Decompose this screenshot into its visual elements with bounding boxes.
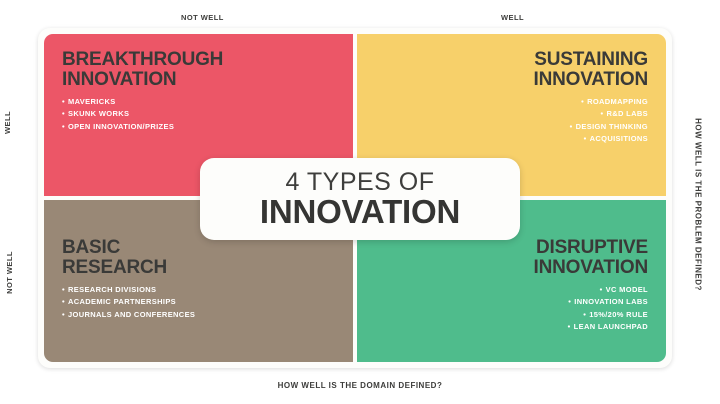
quadrant-title: DISRUPTIVE INNOVATION bbox=[375, 238, 648, 278]
list-item: R&D LABS bbox=[375, 108, 648, 120]
list-item: ROADMAPPING bbox=[375, 96, 648, 108]
list-item: MAVERICKS bbox=[62, 96, 335, 108]
list-item: VC MODEL bbox=[375, 284, 648, 296]
badge-subtitle: 4 TYPES OF bbox=[285, 169, 434, 195]
axis-tick-left-well: WELL bbox=[3, 111, 12, 134]
list-item: ACQUISITIONS bbox=[375, 133, 648, 145]
x-axis-title: HOW WELL IS THE DOMAIN DEFINED? bbox=[0, 381, 720, 390]
center-title-badge: 4 TYPES OF INNOVATION bbox=[200, 158, 520, 240]
quadrant-item-list: VC MODEL INNOVATION LABS 15%/20% RULE LE… bbox=[375, 284, 648, 333]
quadrant-item-list: ROADMAPPING R&D LABS DESIGN THINKING ACQ… bbox=[375, 96, 648, 145]
quadrant-item-list: RESEARCH DIVISIONS ACADEMIC PARTNERSHIPS… bbox=[62, 284, 335, 320]
quadrant-item-list: MAVERICKS SKUNK WORKS OPEN INNOVATION/PR… bbox=[62, 96, 335, 132]
list-item: RESEARCH DIVISIONS bbox=[62, 284, 335, 296]
innovation-matrix-infographic: NOT WELL WELL WELL NOT WELL HOW WELL IS … bbox=[0, 0, 720, 404]
badge-title: INNOVATION bbox=[260, 195, 460, 230]
axis-tick-top-well: WELL bbox=[501, 13, 524, 22]
list-item: 15%/20% RULE bbox=[375, 309, 648, 321]
list-item: ACADEMIC PARTNERSHIPS bbox=[62, 296, 335, 308]
quadrant-title: SUSTAINING INNOVATION bbox=[375, 50, 648, 90]
list-item: OPEN INNOVATION/PRIZES bbox=[62, 121, 335, 133]
list-item: LEAN LAUNCHPAD bbox=[375, 321, 648, 333]
axis-tick-left-not-well: NOT WELL bbox=[5, 251, 14, 294]
y-axis-title: HOW WELL IS THE PROBLEM DEFINED? bbox=[694, 90, 703, 320]
axis-tick-top-not-well: NOT WELL bbox=[181, 13, 224, 22]
quadrant-title: BREAKTHROUGH INNOVATION bbox=[62, 50, 335, 90]
list-item: SKUNK WORKS bbox=[62, 108, 335, 120]
list-item: DESIGN THINKING bbox=[375, 121, 648, 133]
list-item: INNOVATION LABS bbox=[375, 296, 648, 308]
list-item: JOURNALS AND CONFERENCES bbox=[62, 309, 335, 321]
quadrant-title: BASIC RESEARCH bbox=[62, 238, 335, 278]
